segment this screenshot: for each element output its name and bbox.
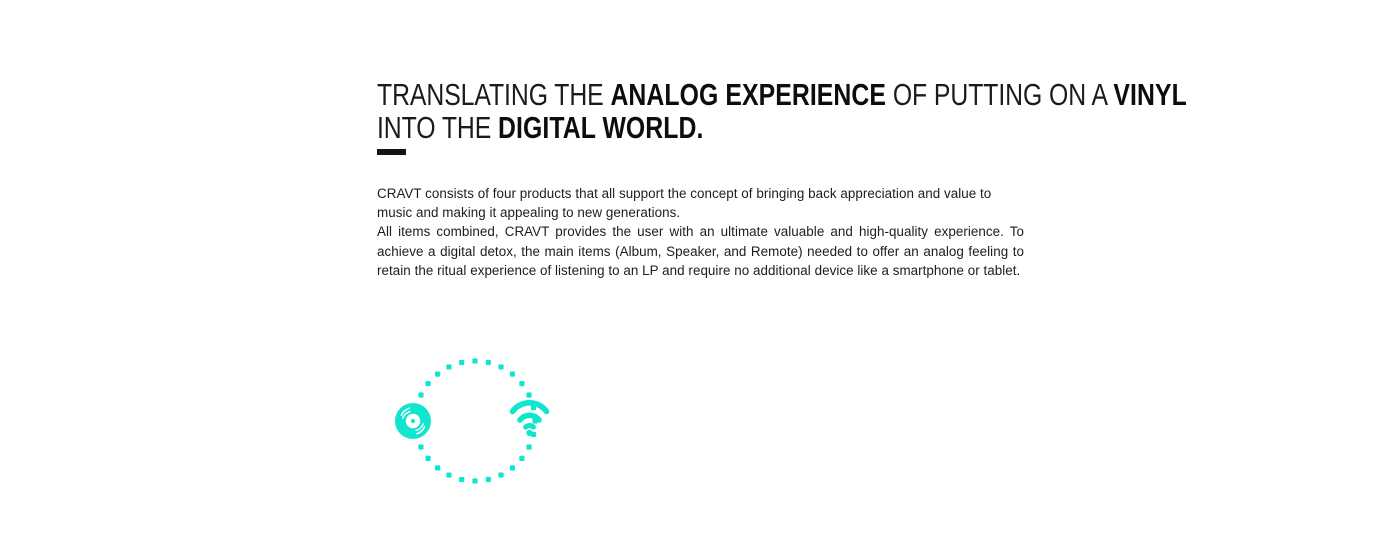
circle-dot <box>435 465 440 470</box>
page-title: TRANSLATING THE ANALOG EXPERIENCE OF PUT… <box>377 78 897 144</box>
headline-l1-part4: VINYL <box>1113 77 1186 112</box>
headline-l2-part1: INTO THE <box>377 110 498 145</box>
circle-dot <box>519 456 524 461</box>
headline-line-2: INTO THE DIGITAL WORLD. <box>377 111 897 144</box>
headline-l1-part3: OF PUTTING ON A <box>886 77 1113 112</box>
circle-dot <box>472 358 477 363</box>
circle-dot <box>446 472 451 477</box>
analog-to-digital-diagram <box>395 356 555 488</box>
circle-dot <box>498 364 503 369</box>
headline-l1-part1: TRANSLATING THE <box>377 77 610 112</box>
circle-dot <box>472 478 477 483</box>
body-paragraph-1: CRAVT consists of four products that all… <box>377 184 1024 222</box>
wifi-icon <box>513 403 547 436</box>
vinyl-record-icon <box>395 403 431 439</box>
circle-dot <box>526 392 531 397</box>
headline-line-1: TRANSLATING THE ANALOG EXPERIENCE OF PUT… <box>377 78 897 111</box>
body-paragraph-2: All items combined, CRAVT provides the u… <box>377 222 1024 280</box>
headline-underline-rule <box>377 149 406 155</box>
circle-dot <box>418 444 423 449</box>
circle-dot <box>526 444 531 449</box>
body-text: CRAVT consists of four products that all… <box>377 184 1024 280</box>
circle-dot <box>425 456 430 461</box>
circle-dot <box>435 371 440 376</box>
circle-dot <box>510 465 515 470</box>
circle-dot <box>486 360 491 365</box>
circle-dot <box>486 477 491 482</box>
circle-dot <box>459 477 464 482</box>
circle-dot <box>510 371 515 376</box>
circle-dot <box>418 392 423 397</box>
headline-l2-part2: DIGITAL WORLD. <box>498 110 703 145</box>
circle-dot <box>519 381 524 386</box>
slide-canvas: TRANSLATING THE ANALOG EXPERIENCE OF PUT… <box>0 0 1400 541</box>
content-column: TRANSLATING THE ANALOG EXPERIENCE OF PUT… <box>377 0 1023 541</box>
circle-dot <box>459 360 464 365</box>
circle-dot <box>446 364 451 369</box>
headline-l1-part2: ANALOG EXPERIENCE <box>610 77 886 112</box>
circle-dot <box>498 472 503 477</box>
circle-dot <box>425 381 430 386</box>
